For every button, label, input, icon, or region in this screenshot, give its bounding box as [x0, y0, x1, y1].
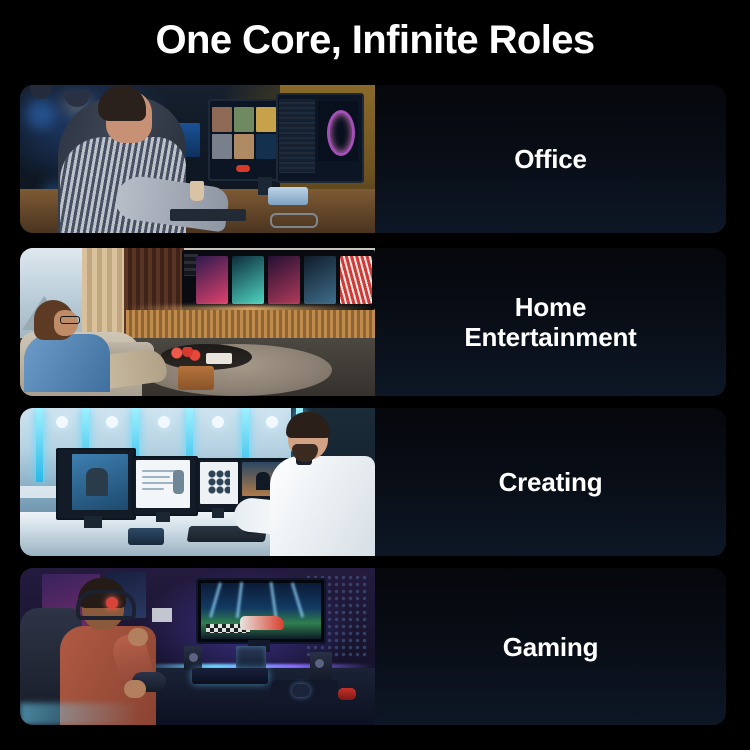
monitor-stand — [84, 516, 102, 528]
eyeglasses — [60, 316, 80, 324]
video-call-grid — [212, 107, 276, 159]
document-screen — [136, 460, 190, 508]
use-case-row-creating[interactable]: Creating — [20, 408, 726, 556]
person-hair — [98, 85, 146, 121]
office-label-panel: Office — [375, 85, 726, 233]
speaker-left — [184, 646, 202, 670]
use-case-row-home-entertainment[interactable]: Home Entertainment — [20, 248, 726, 396]
person-hand — [124, 680, 146, 698]
use-case-label-home-entertainment: Home Entertainment — [464, 292, 636, 352]
living-room-tv-photo — [20, 248, 375, 396]
energy-drink-can — [338, 688, 356, 700]
mini-pc-device — [128, 528, 164, 545]
ceiling-bulb — [56, 416, 68, 428]
office-thumbnail — [20, 85, 375, 233]
gaming-thumbnail — [20, 568, 375, 725]
3d-model-screen — [200, 462, 238, 504]
keyboard — [170, 209, 246, 221]
use-case-label-office: Office — [514, 144, 586, 174]
bokeh-light — [26, 99, 56, 129]
coffee-cup — [190, 181, 204, 201]
creator-studio-photo — [20, 408, 375, 556]
gaming-keyboard — [192, 668, 268, 684]
home-entertainment-thumbnail — [20, 248, 375, 396]
streaming-tile — [340, 256, 372, 304]
page-title: One Core, Infinite Roles — [0, 16, 750, 64]
speaker-right — [310, 652, 332, 682]
ceiling-bulb — [266, 416, 278, 428]
race-car — [240, 616, 284, 630]
monitor-stand — [212, 508, 224, 518]
video-editing-screen — [72, 454, 128, 510]
ultrawide-monitor — [196, 578, 326, 644]
person-body — [270, 456, 375, 556]
streaming-tile — [196, 256, 228, 304]
use-case-label-gaming: Gaming — [503, 632, 599, 662]
gaming-headset — [76, 590, 136, 620]
ceiling-bulb — [212, 416, 224, 428]
gaming-label-panel: Gaming — [375, 568, 726, 725]
wall-note — [152, 608, 172, 622]
streaming-tile-row — [196, 256, 372, 304]
end-call-button-icon — [236, 165, 250, 172]
streaming-tile — [268, 256, 300, 304]
person-body — [24, 334, 110, 392]
mini-pc-device — [268, 187, 308, 205]
data-visualization — [318, 101, 358, 161]
person-hand — [128, 628, 148, 646]
table-base — [178, 366, 214, 390]
use-case-row-gaming[interactable]: Gaming — [20, 568, 726, 725]
book — [206, 353, 232, 364]
home-entertainment-label-panel: Home Entertainment — [375, 248, 726, 396]
gaming-mouse — [292, 684, 310, 697]
use-case-label-creating: Creating — [499, 467, 603, 497]
fruit-bowl — [166, 347, 202, 362]
creating-thumbnail — [20, 408, 375, 556]
monitor-stand — [156, 512, 170, 522]
floor-rgb-glow — [20, 703, 140, 725]
ceiling-bulb — [158, 416, 170, 428]
creating-label-panel: Creating — [375, 408, 726, 556]
eyeglasses — [270, 213, 318, 228]
streaming-tile — [232, 256, 264, 304]
use-case-row-office[interactable]: Office — [20, 85, 726, 233]
poster-root: One Core, Infinite Roles — [0, 0, 750, 750]
code-editor-panel — [279, 99, 315, 173]
led-strip — [36, 408, 43, 482]
streaming-tile — [304, 256, 336, 304]
office-workstation-photo — [20, 85, 375, 233]
pendant-lamp — [30, 85, 52, 99]
gaming-setup-photo — [20, 568, 375, 725]
ceiling-bulb — [106, 416, 118, 428]
